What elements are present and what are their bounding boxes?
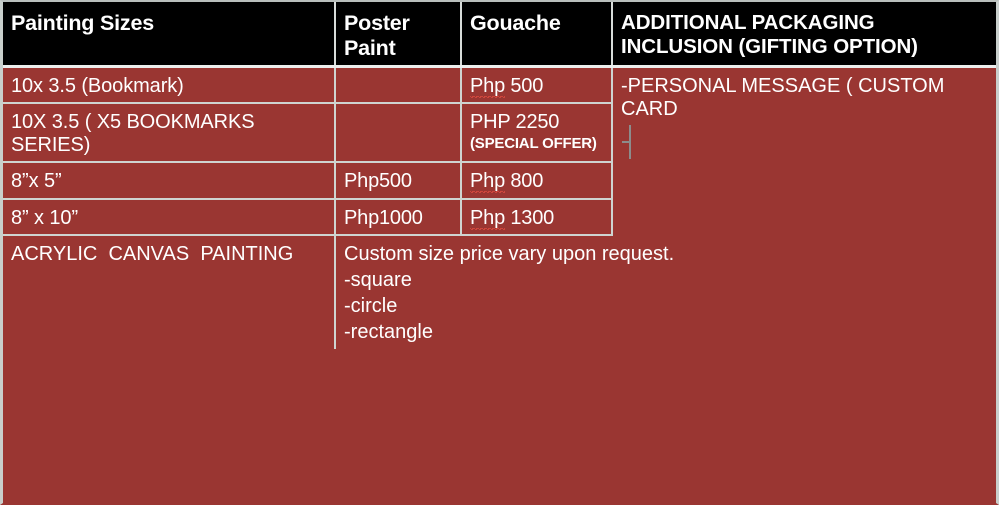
- cell-poster-paint-price: Php500: [335, 162, 461, 198]
- packaging-line-2: CARD: [621, 98, 988, 121]
- cell-painting-size: 8”x 5”: [3, 162, 335, 198]
- currency-label-gouache: PHP: [470, 111, 510, 133]
- amount-gouache: 1300: [510, 207, 554, 229]
- cell-gouache-price: PHP 2250 (SPECIAL OFFER): [461, 103, 612, 162]
- custom-shape-circle: -circle: [344, 295, 988, 318]
- column-header-additional-packaging: ADDITIONAL PACKAGING INCLUSION (GIFTING …: [612, 2, 996, 66]
- custom-note-line: Custom size price vary upon request.: [344, 243, 988, 266]
- table-header-row: Painting Sizes Poster Paint Gouache ADDI…: [3, 2, 996, 66]
- cell-gouache-price: Php 500: [461, 66, 612, 103]
- cell-painting-size: 8” x 10”: [3, 199, 335, 235]
- text-cursor-icon: [629, 125, 631, 159]
- cell-poster-paint-price: Php1000: [335, 199, 461, 235]
- amount-gouache: 500: [510, 75, 543, 97]
- amount-gouache: 2250: [516, 111, 560, 133]
- column-header-gouache: Gouache: [461, 2, 612, 66]
- special-offer-note: (SPECIAL OFFER): [470, 135, 603, 152]
- amount-gouache: 800: [510, 170, 543, 192]
- currency-label-gouache: Php: [470, 75, 505, 98]
- price-table-sheet: Painting Sizes Poster Paint Gouache ADDI…: [0, 0, 999, 505]
- table-row: 10x 3.5 (Bookmark) Php 500 -PERSONAL MES…: [3, 66, 996, 103]
- cell-poster-paint-price: [335, 103, 461, 162]
- currency-label-gouache: Php: [470, 170, 505, 193]
- column-header-painting-sizes: Painting Sizes: [3, 2, 335, 66]
- table-row-acrylic: ACRYLIC CANVAS PAINTING Custom size pric…: [3, 235, 996, 349]
- custom-shape-rectangle: -rectangle: [344, 321, 988, 344]
- custom-shape-square: -square: [344, 269, 988, 292]
- cell-painting-size: 10X 3.5 ( X5 BOOKMARKS SERIES): [3, 103, 335, 162]
- cell-gouache-price: Php 1300: [461, 199, 612, 235]
- packaging-line-1: -PERSONAL MESSAGE ( CUSTOM: [621, 75, 988, 98]
- cell-additional-packaging[interactable]: -PERSONAL MESSAGE ( CUSTOM CARD: [612, 66, 996, 234]
- cell-custom-size-options: Custom size price vary upon request. -sq…: [335, 235, 996, 349]
- pricing-table: Painting Sizes Poster Paint Gouache ADDI…: [3, 2, 996, 349]
- cell-acrylic-canvas-painting: ACRYLIC CANVAS PAINTING: [3, 235, 335, 349]
- column-header-poster-paint: Poster Paint: [335, 2, 461, 66]
- cell-gouache-price: Php 800: [461, 162, 612, 198]
- currency-label-gouache: Php: [470, 207, 505, 230]
- cell-poster-paint-price: [335, 66, 461, 103]
- cell-painting-size: 10x 3.5 (Bookmark): [3, 66, 335, 103]
